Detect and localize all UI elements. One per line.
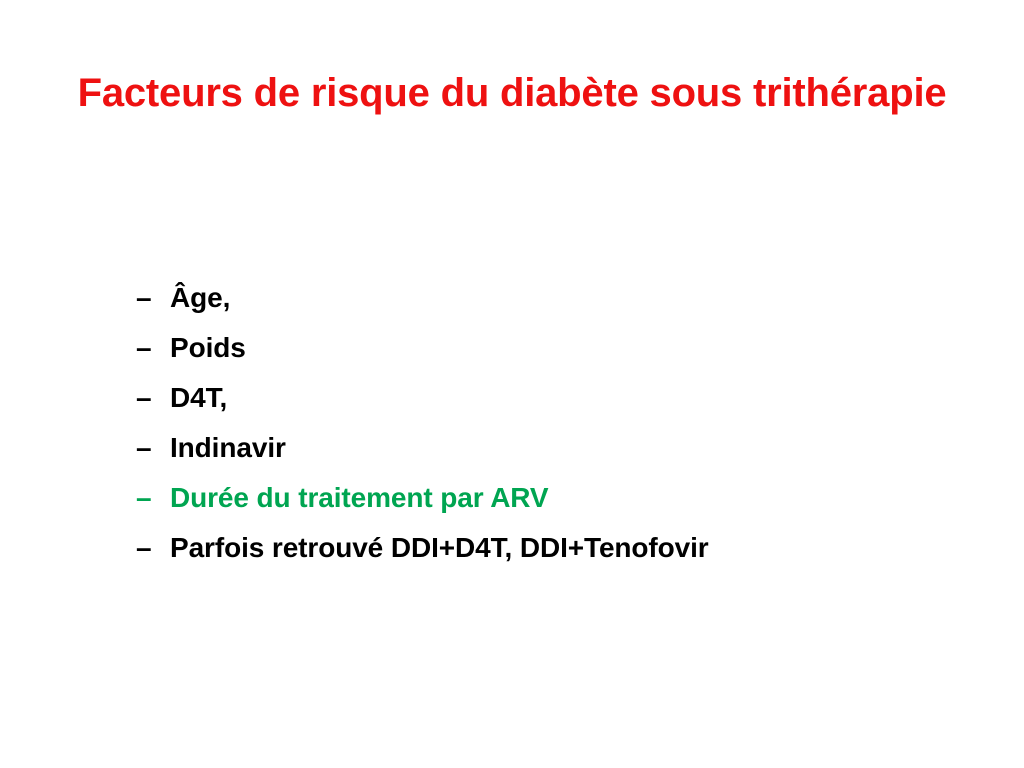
list-item: – Indinavir [136,434,966,484]
dash-bullet-icon: – [136,284,170,312]
risk-factors-list: – Âge, – Poids – D4T, – Indinavir – Duré… [136,284,966,584]
dash-bullet-icon: – [136,534,170,562]
dash-bullet-icon: – [136,384,170,412]
list-item: – Poids [136,334,966,384]
list-item-label: D4T, [170,384,227,412]
list-item: – D4T, [136,384,966,434]
dash-bullet-icon: – [136,434,170,462]
list-item-highlighted: – Durée du traitement par ARV [136,484,966,534]
dash-bullet-icon: – [136,484,170,512]
dash-bullet-icon: – [136,334,170,362]
list-item: – Âge, [136,284,966,334]
list-item-label: Parfois retrouvé DDI+D4T, DDI+Tenofovir [170,534,709,562]
list-item: – Parfois retrouvé DDI+D4T, DDI+Tenofovi… [136,534,966,584]
list-item-label: Poids [170,334,246,362]
list-item-label: Indinavir [170,434,286,462]
slide-body: – Âge, – Poids – D4T, – Indinavir – Duré… [136,284,966,584]
presentation-slide: Facteurs de risque du diabète sous trith… [0,0,1024,768]
list-item-label: Durée du traitement par ARV [170,484,549,512]
slide-title: Facteurs de risque du diabète sous trith… [72,69,952,118]
list-item-label: Âge, [170,284,230,312]
